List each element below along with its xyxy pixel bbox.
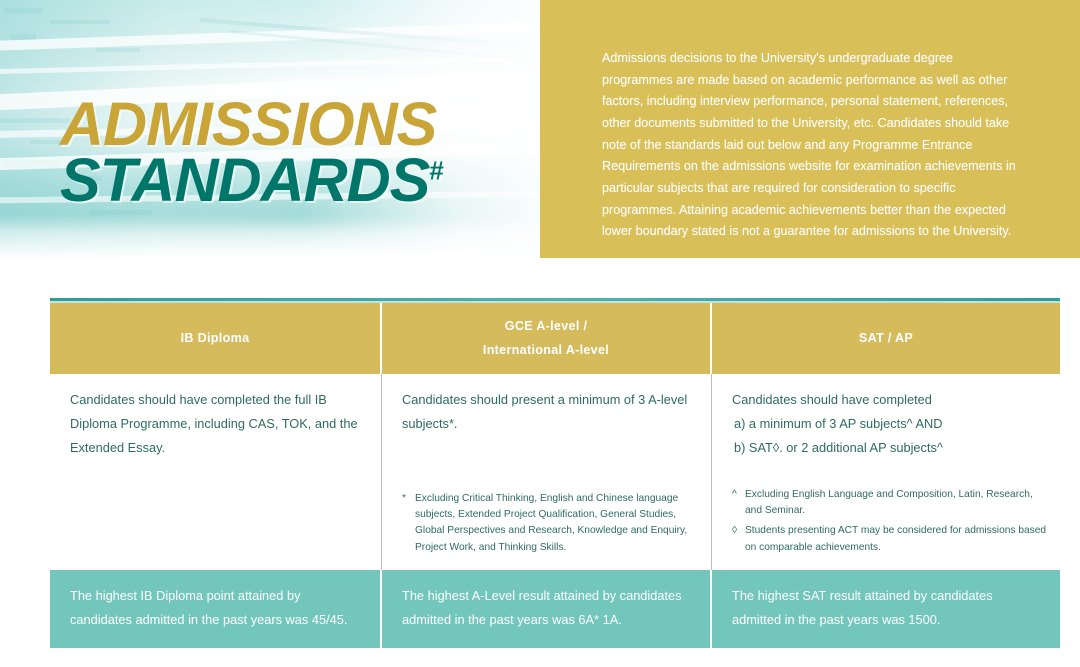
table-header-row: IB Diploma GCE A-level / International A… bbox=[50, 303, 1060, 374]
intro-paragraph: Admissions decisions to the University's… bbox=[602, 48, 1022, 243]
highlight-sat-ap: The highest SAT result attained by candi… bbox=[712, 570, 1060, 648]
sat-ap-requirement-text: Candidates should have completed a) a mi… bbox=[732, 388, 1044, 459]
footnote-marker: ◊ bbox=[732, 523, 745, 556]
table-header-sat-ap: SAT / AP bbox=[712, 303, 1060, 374]
banner-fade-bottom bbox=[0, 214, 560, 262]
footnote-marker: ^ bbox=[732, 487, 745, 520]
page-title: ADMISSIONS STANDARDS# bbox=[60, 96, 443, 208]
gce-a-level-footnotes: * Excluding Critical Thinking, English a… bbox=[402, 491, 699, 560]
intro-panel: Admissions decisions to the University's… bbox=[540, 0, 1080, 258]
table-header-gce-a-level-line2: International A-level bbox=[483, 339, 609, 363]
highlight-ib-diploma: The highest IB Diploma point attained by… bbox=[50, 570, 382, 648]
sat-ap-requirement-lead: Candidates should have completed bbox=[732, 388, 1044, 412]
footnote-marker: * bbox=[402, 491, 415, 556]
footnote: ◊ Students presenting ACT may be conside… bbox=[732, 523, 1048, 556]
table-header-ib-diploma-line1: IB Diploma bbox=[181, 327, 250, 351]
highlight-gce-a-level: The highest A-Level result attained by c… bbox=[382, 570, 712, 648]
page-title-line-2-text: STANDARDS bbox=[60, 146, 429, 214]
table-cell-gce-a-level: Candidates should present a minimum of 3… bbox=[382, 374, 712, 570]
footnote-text: Excluding Critical Thinking, English and… bbox=[415, 491, 699, 556]
table-header-sat-ap-line1: SAT / AP bbox=[859, 327, 913, 351]
gce-a-level-requirement-text: Candidates should present a minimum of 3… bbox=[402, 388, 695, 436]
table-cell-sat-ap: Candidates should have completed a) a mi… bbox=[712, 374, 1060, 570]
footnote: ^ Excluding English Language and Composi… bbox=[732, 487, 1048, 520]
sat-ap-option-a: a) a minimum of 3 AP subjects^ AND bbox=[732, 412, 1044, 436]
sat-ap-footnotes: ^ Excluding English Language and Composi… bbox=[732, 487, 1048, 560]
table-body-row: Candidates should have completed the ful… bbox=[50, 374, 1060, 570]
ib-diploma-requirement-text: Candidates should have completed the ful… bbox=[70, 388, 365, 459]
footnote: * Excluding Critical Thinking, English a… bbox=[402, 491, 699, 556]
footnote-text: Excluding English Language and Compositi… bbox=[745, 487, 1048, 520]
table-highlight-row: The highest IB Diploma point attained by… bbox=[50, 570, 1060, 648]
page-title-line-2: STANDARDS# bbox=[60, 152, 443, 208]
page-title-footnote-marker: # bbox=[429, 156, 442, 186]
footnote-text: Students presenting ACT may be considere… bbox=[745, 523, 1048, 556]
table-header-gce-a-level: GCE A-level / International A-level bbox=[382, 303, 712, 374]
page-title-line-1: ADMISSIONS bbox=[60, 96, 443, 152]
admissions-standards-table: IB Diploma GCE A-level / International A… bbox=[50, 298, 1060, 648]
table-header-ib-diploma: IB Diploma bbox=[50, 303, 382, 374]
page-banner: ADMISSIONS STANDARDS# Admissions decisio… bbox=[0, 0, 1080, 262]
table-cell-ib-diploma: Candidates should have completed the ful… bbox=[50, 374, 382, 570]
sat-ap-option-b: b) SAT◊. or 2 additional AP subjects^ bbox=[732, 436, 1044, 460]
table-header-gce-a-level-line1: GCE A-level / bbox=[483, 315, 609, 339]
